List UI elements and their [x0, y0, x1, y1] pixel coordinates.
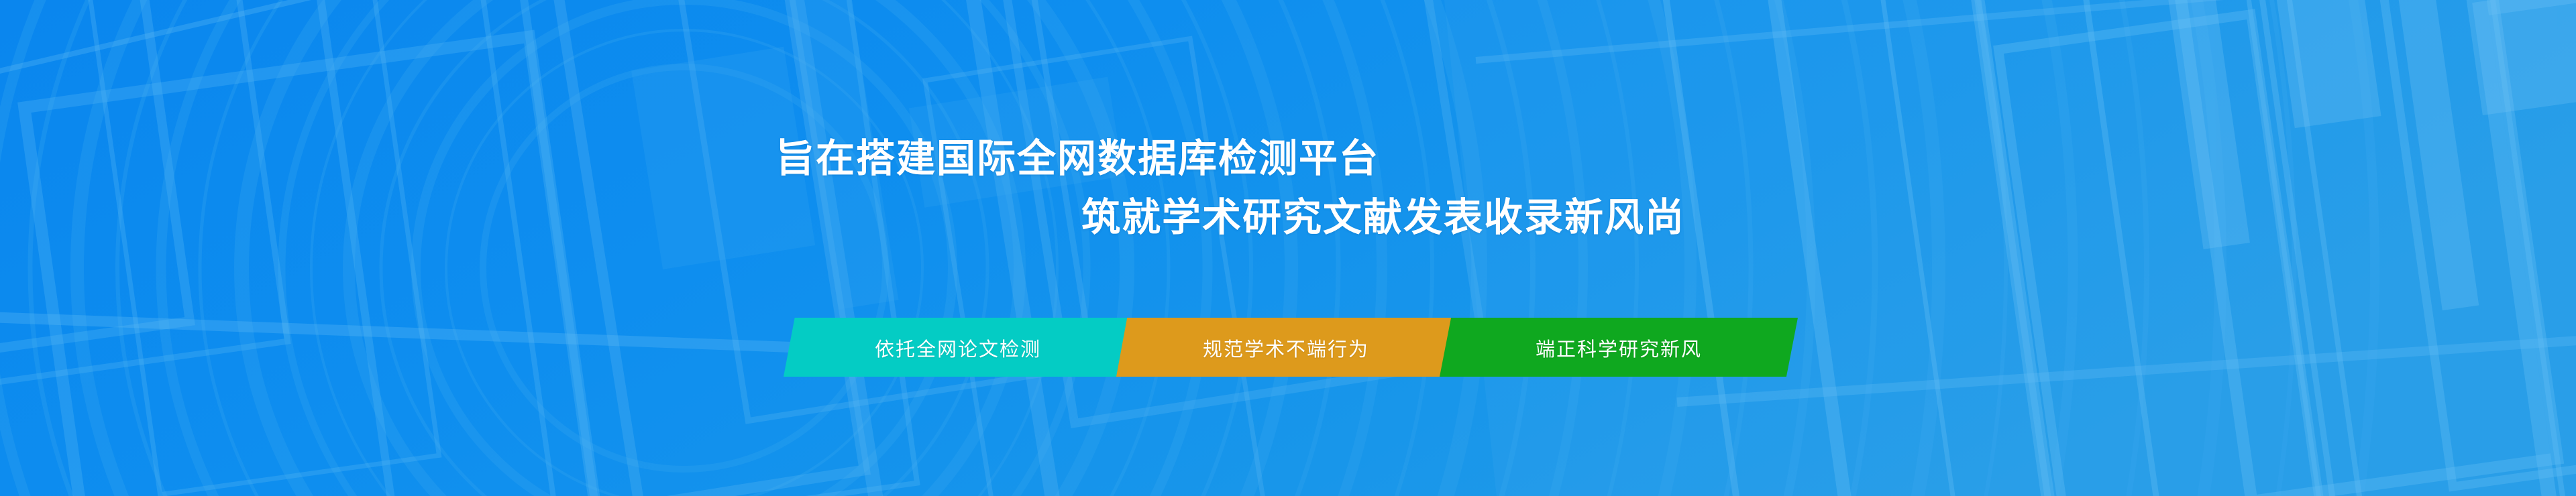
promo-banner: 旨在搭建国际全网数据库检测平台 筑就学术研究文献发表收录新风尚 依托全网论文检测…	[0, 0, 2576, 496]
tag-paper-detection-label: 依托全网论文检测	[875, 334, 1041, 362]
tag-paper-detection[interactable]: 依托全网论文检测	[784, 318, 1132, 377]
tag-academic-misconduct[interactable]: 规范学术不端行为	[1116, 318, 1456, 377]
background-pattern	[0, 0, 2576, 496]
tag-academic-misconduct-label: 规范学术不端行为	[1203, 334, 1369, 362]
feature-tag-band: 依托全网论文检测 规范学术不端行为 端正科学研究新风	[0, 318, 2576, 377]
tag-research-ethos-label: 端正科学研究新风	[1536, 334, 1702, 362]
tag-research-ethos[interactable]: 端正科学研究新风	[1440, 318, 1798, 377]
